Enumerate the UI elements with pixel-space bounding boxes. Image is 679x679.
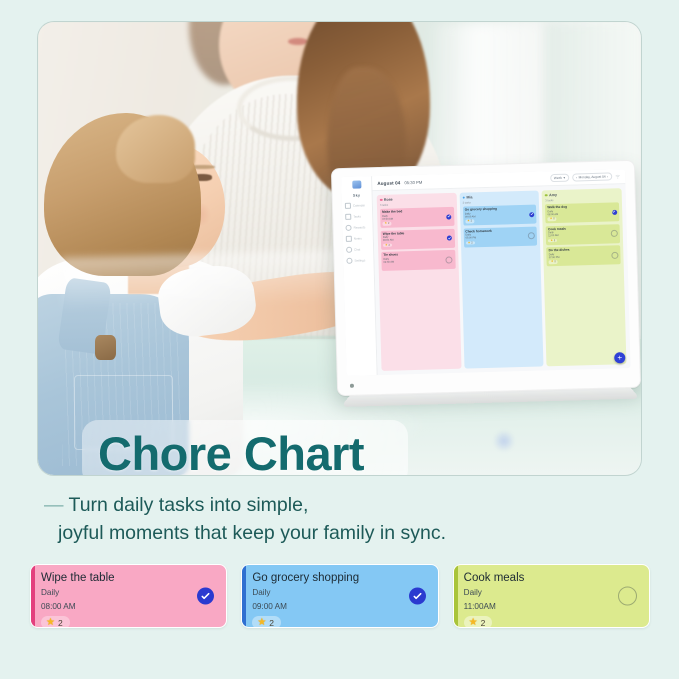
notes-icon: [346, 236, 352, 242]
sidebar-item-notes[interactable]: Notes: [346, 235, 370, 242]
task-card[interactable]: Check homework Daily 05:00 PM ★ 2: [463, 226, 537, 247]
card-star-badge: ★ 2: [252, 616, 281, 628]
photo-scene: Sky Calendar Tasks Rewards: [38, 22, 641, 475]
task-time: 08:00 AM: [383, 237, 453, 242]
current-day-label: Monday, August 04: [579, 175, 606, 180]
rewards-icon: [345, 225, 351, 231]
card-accent-bar: [242, 565, 246, 627]
card-time: 09:00 AM: [252, 601, 429, 612]
star-icon: ★: [385, 244, 388, 247]
chore-card-wipe-the-table[interactable]: Wipe the table Daily 08:00 AM ★ 2: [30, 564, 227, 628]
sidebar-item-chat[interactable]: Chat: [346, 246, 370, 253]
header-date: August 04: [377, 180, 400, 186]
star-icon: ★: [467, 220, 470, 223]
column-subtitle: 3 tasks: [380, 201, 454, 206]
chore-card-cook-meals[interactable]: Cook meals Daily 11:00AM ★ 2: [453, 564, 650, 628]
tagline-dash: —: [44, 494, 64, 516]
task-stars: ★ 2: [548, 217, 557, 221]
child-overalls-buckle: [95, 335, 116, 360]
header-controls: Week ▾ ‹ Monday, August 04 ›: [550, 172, 621, 182]
member-name: Amy: [549, 193, 557, 197]
column-subtitle: 3 tasks: [545, 197, 619, 202]
wifi-icon[interactable]: [615, 174, 620, 179]
sidebar-item-settings[interactable]: Settings: [346, 257, 370, 264]
task-star-count: 2: [471, 241, 472, 244]
task-time: 07:00 AM: [382, 216, 452, 221]
sidebar-item-rewards[interactable]: Rewards: [345, 224, 369, 231]
tagline-line-1: Turn daily tasks into simple,: [69, 494, 309, 516]
chore-board: Rose 3 tasks Make the bed Daily 07:00 AM: [373, 184, 631, 375]
prev-day-icon[interactable]: ‹: [576, 175, 577, 179]
calendar-icon: [345, 203, 351, 209]
card-star-badge: ★ 2: [41, 616, 70, 628]
app-name: Sky: [353, 193, 360, 197]
task-card[interactable]: Go grocery shopping Daily 09:00 AM ★ 2: [463, 205, 537, 226]
app-main: August 04 05:30 PM Week ▾ ‹ Mo: [372, 169, 630, 375]
title-banner: Chore Chart: [82, 420, 408, 475]
promo-page: Sky Calendar Tasks Rewards: [0, 0, 679, 679]
task-checkbox[interactable]: [610, 230, 617, 237]
column-rose: Rose 3 tasks Make the bed Daily 07:00 AM: [377, 193, 462, 371]
card-time: 08:00 AM: [41, 601, 218, 612]
tablet-screen: Sky Calendar Tasks Rewards: [341, 169, 630, 376]
star-icon: ★: [384, 222, 387, 225]
task-star-count: 2: [553, 218, 554, 221]
child-hair-fringe: [116, 115, 194, 183]
member-dot: [545, 194, 548, 197]
sidebar-label: Rewards: [353, 225, 365, 229]
chat-icon: [346, 247, 352, 253]
sidebar-label: Calendar: [353, 203, 365, 207]
card-repeat: Daily: [464, 587, 641, 598]
task-time: 09:30 AM: [383, 259, 453, 264]
card-checkbox[interactable]: [197, 588, 214, 605]
sidebar-item-calendar[interactable]: Calendar: [345, 202, 369, 209]
sidebar-label: Settings: [354, 258, 365, 262]
hero-photo: Sky Calendar Tasks Rewards: [38, 22, 641, 475]
member-dot: [462, 196, 465, 199]
column-amy: Amy 3 tasks Walk the dog Daily 08:00 AM …: [542, 188, 627, 366]
task-time: 11:00 AM: [548, 233, 618, 238]
chevron-down-icon: ▾: [563, 176, 565, 180]
task-card[interactable]: Cook meals Daily 11:00 AM ★ 2: [546, 224, 620, 245]
task-stars: ★ 2: [548, 239, 557, 243]
task-star-count: 2: [388, 222, 389, 225]
task-card[interactable]: Make the bed Daily 07:00 AM ★ 2: [380, 207, 454, 228]
task-checkbox[interactable]: [528, 232, 535, 239]
task-time: 07:00 PM: [549, 254, 619, 259]
star-icon: ★: [46, 618, 55, 628]
tagline-line-2: joyful moments that keep your family in …: [58, 520, 644, 548]
task-stars: ★ 2: [465, 219, 474, 223]
task-card[interactable]: Tie shoes Daily 09:30 AM: [381, 250, 455, 271]
gear-icon: [346, 258, 352, 264]
member-name: Mia: [466, 195, 472, 199]
task-star-count: 2: [389, 244, 390, 247]
tasks-icon: [345, 214, 351, 220]
task-time: 09:00 AM: [465, 214, 535, 219]
app-logo-icon: [352, 180, 361, 188]
task-checkbox[interactable]: [447, 235, 452, 240]
page-title: Chore Chart: [98, 426, 364, 476]
card-content: Wipe the table Daily 08:00 AM ★ 2: [41, 572, 218, 622]
member-dot: [380, 199, 383, 202]
card-title: Cook meals: [464, 572, 641, 585]
tablet-reflection: [61, 250, 338, 310]
view-selector[interactable]: Week ▾: [550, 174, 569, 183]
tablet-device: Sky Calendar Tasks Rewards: [331, 160, 641, 396]
card-star-count: 2: [481, 618, 486, 628]
star-icon: ★: [550, 239, 553, 242]
column-mia: Mia 2 tasks Go grocery shopping Daily 09…: [459, 190, 544, 368]
card-accent-bar: [31, 565, 35, 627]
star-icon: ★: [550, 218, 553, 221]
card-time: 11:00AM: [464, 601, 641, 612]
task-card[interactable]: Wipe the table Daily 08:00 AM ★ 2: [381, 228, 455, 249]
date-navigator[interactable]: ‹ Monday, August 04 ›: [572, 172, 612, 181]
task-stars: ★ 2: [549, 260, 558, 264]
star-icon: ★: [257, 618, 266, 628]
card-content: Cook meals Daily 11:00AM ★ 2: [464, 572, 641, 622]
task-checkbox[interactable]: [529, 212, 534, 217]
card-repeat: Daily: [252, 587, 429, 598]
card-accent-bar: [454, 565, 458, 627]
task-card[interactable]: Do the dishes Daily 07:00 PM ★ 2: [547, 245, 621, 266]
card-title: Go grocery shopping: [252, 572, 429, 585]
star-icon: ★: [468, 241, 471, 244]
chore-app: Sky Calendar Tasks Rewards: [341, 169, 630, 376]
next-day-icon[interactable]: ›: [607, 175, 608, 179]
task-stars: ★ 2: [382, 222, 391, 226]
card-title: Wipe the table: [41, 572, 218, 585]
card-star-badge: ★ 2: [464, 616, 493, 628]
task-checkbox[interactable]: [446, 214, 451, 219]
task-star-count: 2: [554, 261, 555, 264]
star-icon: ★: [469, 618, 478, 628]
card-star-count: 2: [58, 618, 63, 628]
member-name: Rose: [384, 198, 393, 202]
task-star-count: 2: [471, 220, 472, 223]
task-stars: ★ 2: [383, 243, 392, 247]
view-selector-label: Week: [554, 176, 562, 180]
task-star-count: 2: [554, 239, 555, 242]
chore-card-go-grocery-shopping[interactable]: Go grocery shopping Daily 09:00 AM ★ 2: [241, 564, 438, 628]
star-icon: ★: [551, 261, 554, 264]
sidebar-label: Chat: [354, 247, 360, 251]
card-checkbox[interactable]: [409, 588, 426, 605]
sidebar-label: Tasks: [353, 214, 361, 218]
card-checkbox[interactable]: [618, 587, 637, 606]
sidebar-label: Notes: [354, 236, 362, 240]
sidebar-item-tasks[interactable]: Tasks: [345, 213, 369, 220]
chore-card-row: Wipe the table Daily 08:00 AM ★ 2 Go gro…: [30, 564, 650, 628]
tagline: —Turn daily tasks into simple, joyful mo…: [44, 492, 644, 547]
task-stars: ★ 2: [466, 241, 475, 245]
column-subtitle: 2 tasks: [463, 199, 537, 204]
task-card[interactable]: Walk the dog Daily 08:00 AM ★ 2: [545, 202, 619, 223]
card-repeat: Daily: [41, 587, 218, 598]
task-time: 05:00 PM: [466, 235, 536, 240]
header-time: 05:30 PM: [404, 179, 422, 184]
task-time: 08:00 AM: [548, 211, 618, 216]
task-checkbox[interactable]: [612, 209, 617, 214]
card-star-count: 2: [269, 618, 274, 628]
task-checkbox[interactable]: [611, 251, 618, 258]
card-content: Go grocery shopping Daily 09:00 AM ★ 2: [252, 572, 429, 622]
